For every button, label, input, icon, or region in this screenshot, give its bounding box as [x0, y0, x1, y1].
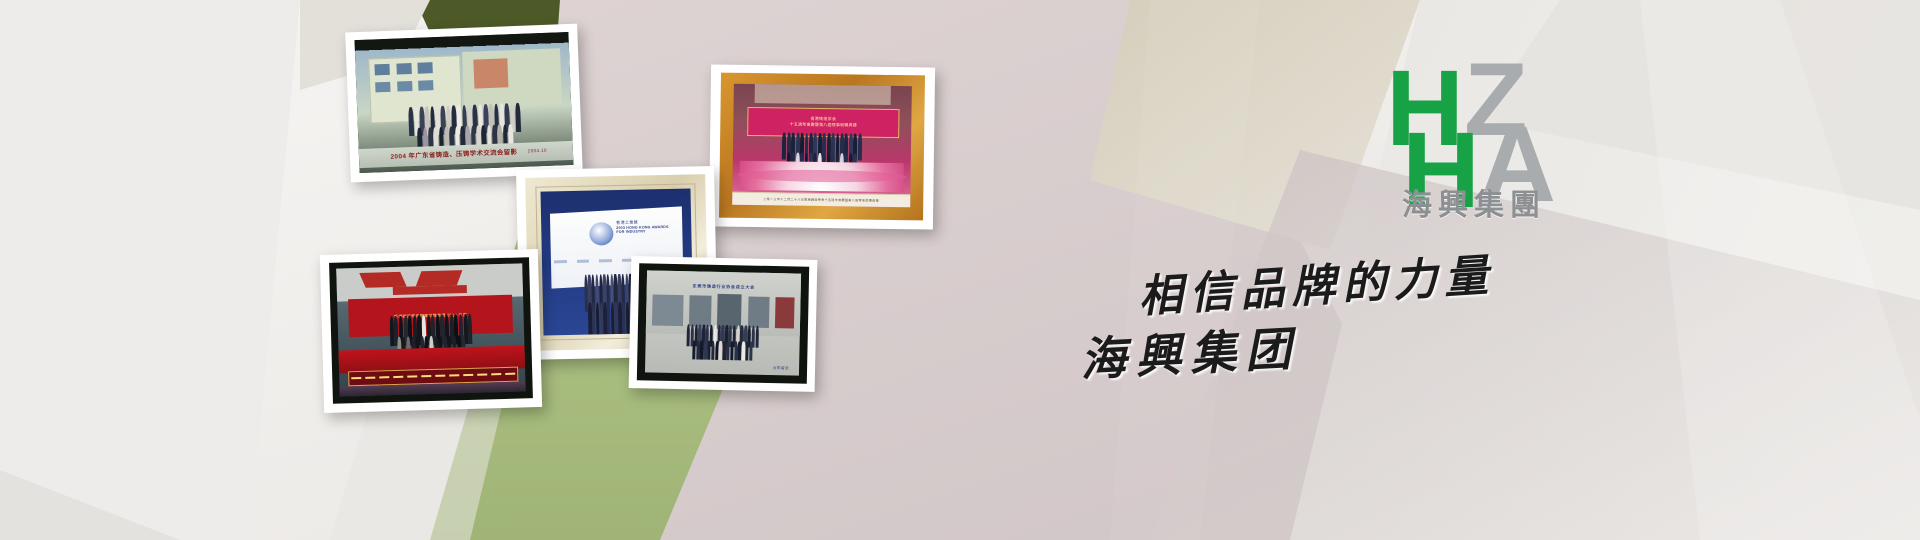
- slogan-line-1: 相信品牌的力量: [1136, 239, 1496, 325]
- photo-card-red-hall-2014[interactable]: 香港鑄造學會理事就職典禮 2014 年度: [320, 249, 542, 413]
- slogan-line-2: 海興集团: [1078, 312, 1301, 389]
- photo-image-awards-ceremony: 香港铸造学会 十五週年會慶暨第八屆理事就職典禮: [732, 84, 912, 207]
- logo-letters: H Z H A: [1386, 52, 1616, 182]
- background-shapes-svg: [0, 0, 1920, 540]
- photo-card-awards-ceremony[interactable]: 香港铸造学会 十五週年會慶暨第八屆理事就職典禮: [709, 64, 935, 229]
- photo-image-building-entrance: 东莞市铸造行业协会成立大会: [645, 270, 801, 375]
- photo-card-building-entrance[interactable]: 东莞市铸造行业协会成立大会: [629, 256, 818, 392]
- brand-banner: 2004 年广东省铸造、压铸学术交流会留影 2004.10 香港铸造学会 十五週…: [0, 0, 1920, 540]
- photo-card-guangdong-2004[interactable]: 2004 年广东省铸造、压铸学术交流会留影 2004.10: [345, 24, 583, 183]
- photo-caption-awards-ceremony: 二零一三年十二月二十八日香港鑄造學會十五週年會慶暨第八屆理事就職典禮: [732, 192, 910, 208]
- photo-image-guangdong-2004: 2004 年广东省铸造、压铸学术交流会留影 2004.10: [355, 32, 574, 173]
- photo-image-red-hall-2014: 香港鑄造學會理事就職典禮 2014 年度: [336, 263, 526, 396]
- background-artwork: [0, 0, 1920, 540]
- logo-company-name: 海興集團: [1402, 180, 1546, 224]
- photo-caption-building-entrance: 合影留念: [645, 359, 799, 374]
- company-logo[interactable]: H Z H A 海興集團: [1386, 52, 1616, 227]
- brand-slogan: 相信品牌的力量 海興集团: [1080, 250, 1550, 410]
